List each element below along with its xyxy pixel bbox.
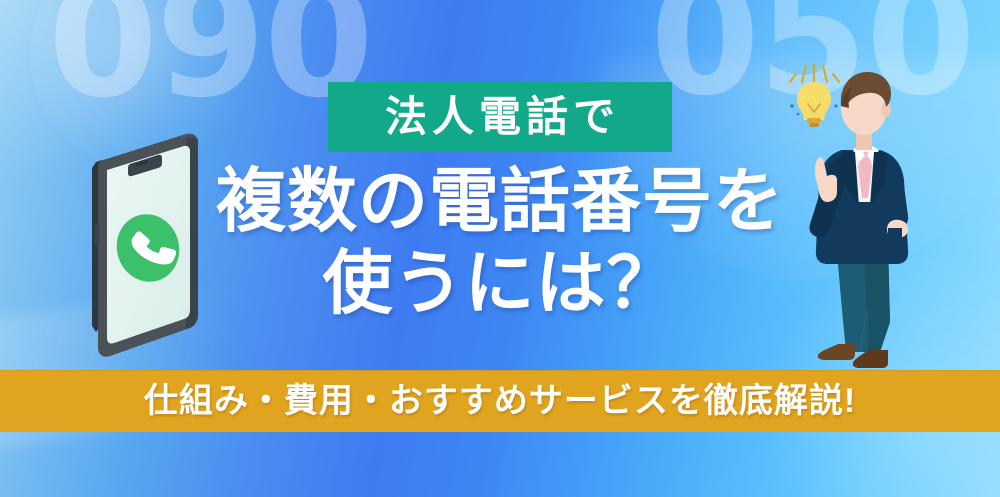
subtitle-ribbon: 仕組み・費用・おすすめサービスを徹底解説! [0, 370, 1000, 432]
lightbulb-idea [790, 64, 839, 127]
ghost-number-090: 090 [48, 0, 372, 120]
badge-label: 法人電話で [380, 96, 620, 138]
smartphone-mockup [78, 128, 210, 366]
businessman-pointing [784, 52, 944, 382]
promo-banner: 090 050 [0, 0, 1000, 497]
ribbon-label: 仕組み・費用・おすすめサービスを徹底解説! [144, 384, 856, 418]
category-badge: 法人電話で [328, 82, 672, 152]
